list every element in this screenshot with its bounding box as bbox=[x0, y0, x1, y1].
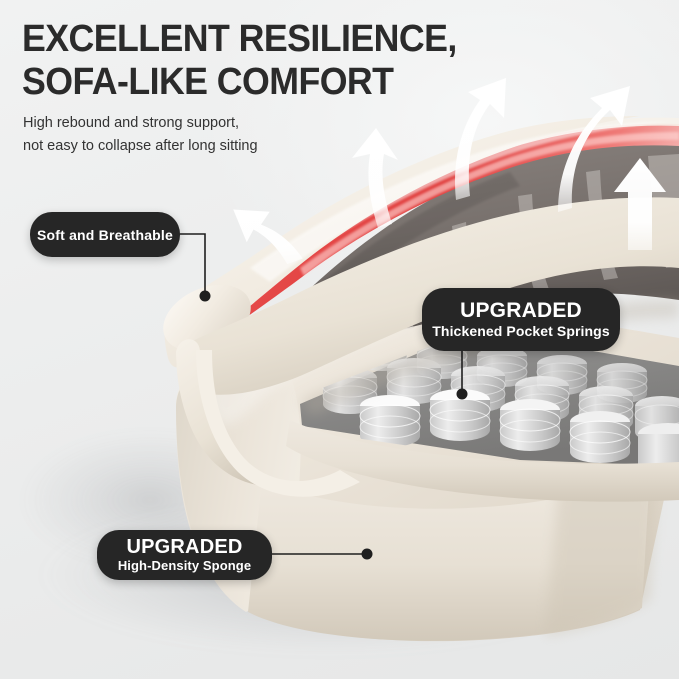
callout-soft-and-breathable[interactable]: Soft and Breathable bbox=[30, 212, 180, 257]
callout-sponge-label: High-Density Sponge bbox=[118, 558, 251, 574]
callout-high-density-sponge[interactable]: UPGRADED High-Density Sponge bbox=[97, 530, 272, 580]
infographic-canvas: EXCELLENT RESILIENCE, SOFA-LIKE COMFORT … bbox=[0, 0, 679, 679]
callout-sponge-heading: UPGRADED bbox=[126, 536, 242, 558]
page-subtitle: High rebound and strong support, not eas… bbox=[23, 112, 443, 159]
callout-springs-label: Thickened Pocket Springs bbox=[432, 322, 609, 340]
callout-springs-heading: UPGRADED bbox=[460, 299, 582, 322]
callout-soft-label: Soft and Breathable bbox=[37, 227, 173, 243]
page-title: EXCELLENT RESILIENCE, SOFA-LIKE COMFORT bbox=[22, 18, 605, 104]
callout-thickened-pocket-springs[interactable]: UPGRADED Thickened Pocket Springs bbox=[422, 288, 620, 351]
